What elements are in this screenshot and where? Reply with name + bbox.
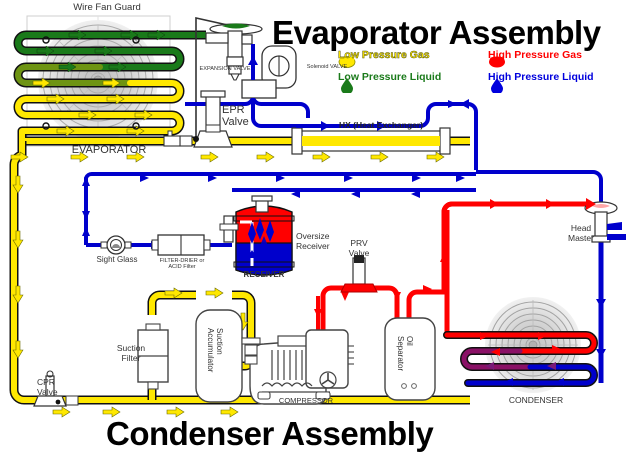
service-valve-right (242, 338, 260, 364)
label-suction-filter: Suction Filter (108, 344, 154, 363)
page-title-condenser: Condenser Assembly (106, 415, 433, 453)
prv-valve (341, 255, 377, 292)
legend-label-high-pressure-gas: High Pressure Gas (488, 49, 582, 61)
label-evaporator: EVAPORATOR (54, 144, 164, 156)
sight-glass (101, 236, 131, 254)
label-epr-valve: EPR Valve (222, 104, 266, 129)
legend-label-low-pressure-gas: Low Pressure Gas (338, 49, 430, 61)
filter-drier (152, 235, 210, 255)
label-sight-glass: Sight Glass (82, 256, 152, 265)
legend-label-low-pressure-liquid: Low Pressure Liquid (338, 71, 441, 83)
refrigeration-system-diagram: Evaporator Assembly Condenser Assembly L… (0, 0, 640, 460)
label-oil-separator-text: Oil Separator (396, 336, 414, 371)
label-suction-accumulator: Suction Accumulator (206, 328, 224, 372)
label-head-master: Head Master (561, 224, 601, 243)
label-expansion-valve: EXPANSION VALVE (190, 66, 260, 72)
label-compressor: COMPRESSOR (266, 397, 346, 405)
label-cpr-valve: CPR Valve (37, 378, 75, 397)
label-suction-accumulator-text: Suction Accumulator (206, 328, 224, 372)
label-wire-fan-guard: Wire Fan Guard (52, 3, 162, 14)
label-receiver: RECEIVER (228, 271, 300, 280)
condenser-fan (485, 297, 581, 393)
label-filter-drier: FILTER-DRIER or ACID Filter (146, 258, 218, 271)
compressor (250, 330, 354, 404)
label-oil-separator: Oil Separator (396, 336, 414, 371)
label-prv-valve: PRV Valve (340, 239, 378, 258)
label-condenser: CONDENSER (498, 396, 574, 406)
label-heat-exchanger: HX (Heat Exchanger) (316, 121, 446, 131)
label-solenoid-valve: Solenoid VALVE (300, 64, 354, 70)
receiver (220, 196, 294, 275)
page-title-evaporator: Evaporator Assembly (272, 14, 601, 52)
legend-label-high-pressure-liquid: High Pressure Liquid (488, 71, 594, 83)
heat-exchanger (292, 128, 450, 154)
